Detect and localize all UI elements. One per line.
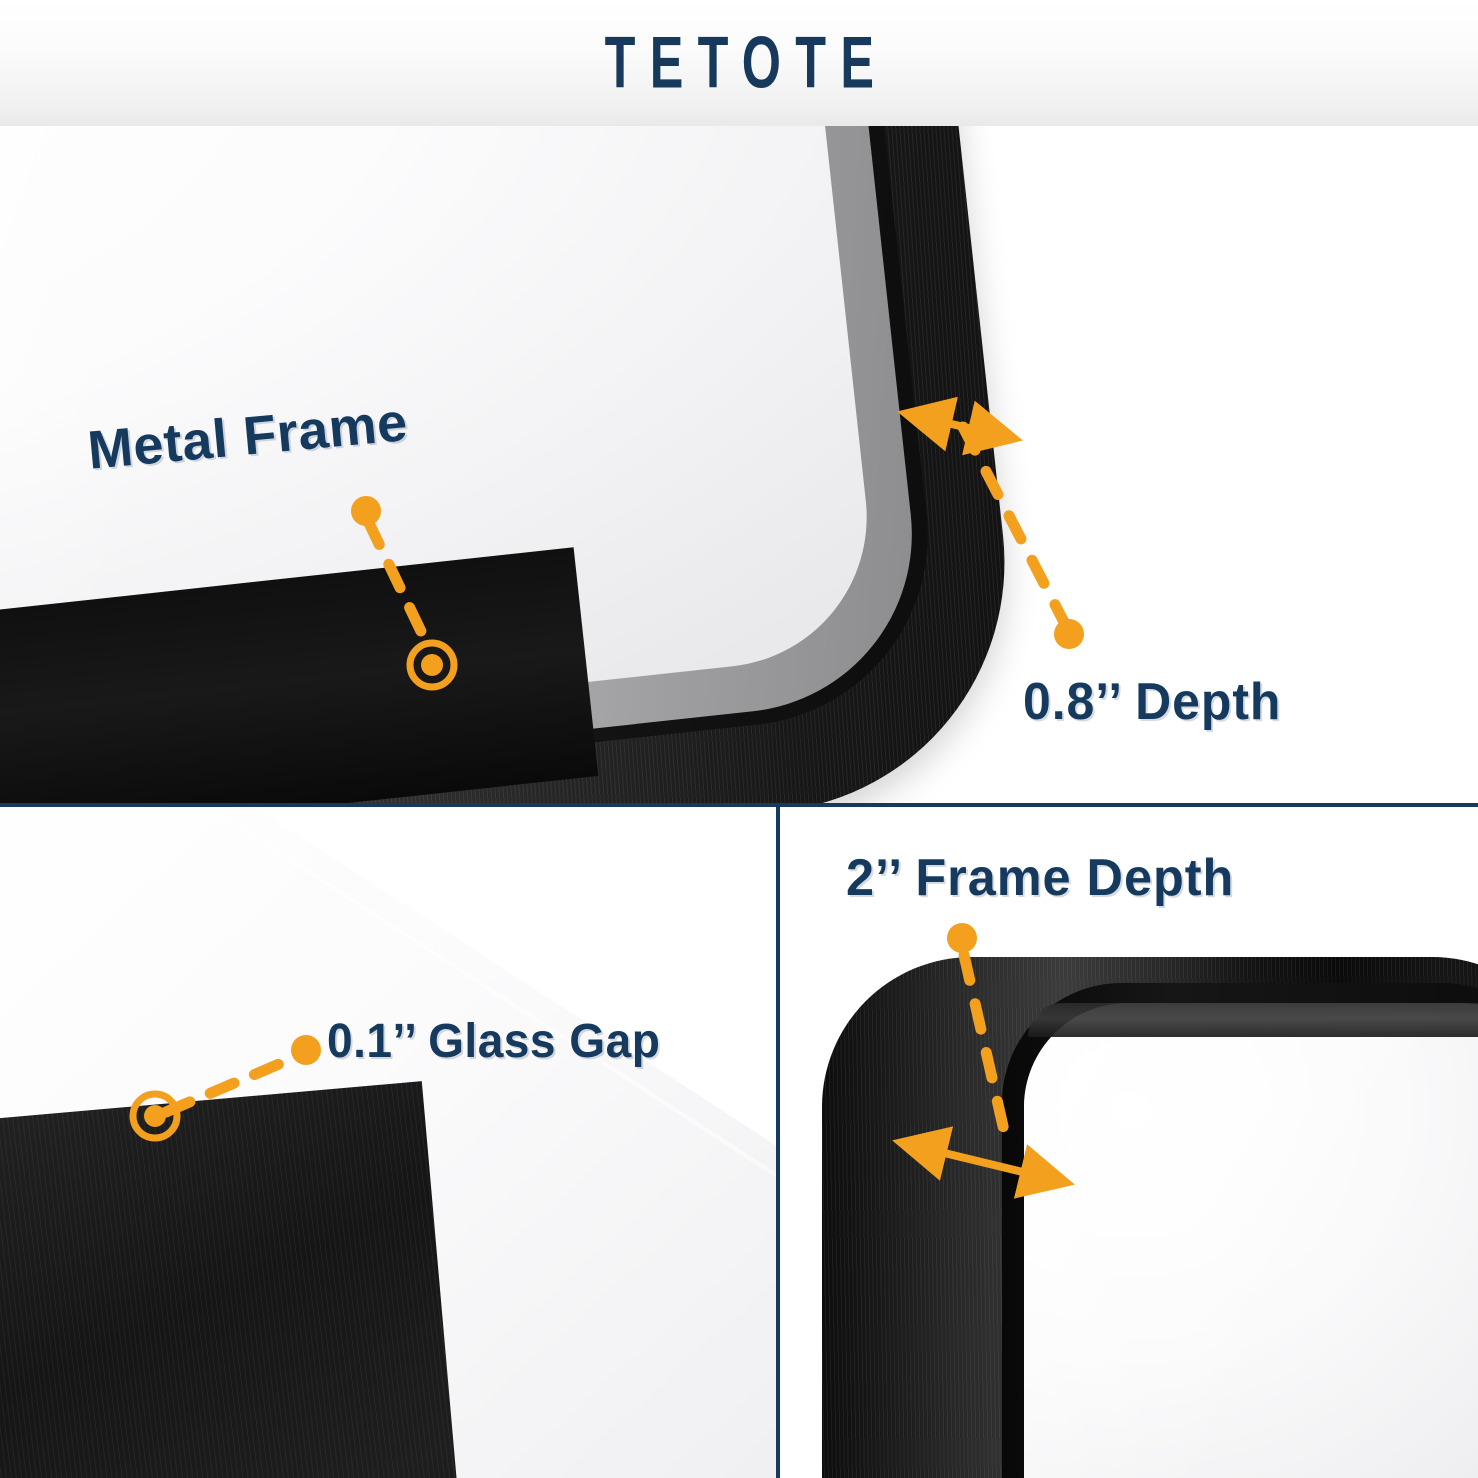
mirror-glass-inset — [1024, 1003, 1478, 1478]
label-frame-depth: 2’’ Frame Depth — [846, 852, 1234, 904]
product-infographic: TETOTE — [0, 0, 1478, 1478]
brand-header: TETOTE — [0, 0, 1478, 126]
panel-glass-gap-closeup — [0, 807, 776, 1478]
panel-divider-vertical — [776, 803, 780, 1478]
label-glass-gap: 0.1’’ Glass Gap — [327, 1018, 660, 1066]
brand-logo-tetote: TETOTE — [590, 26, 888, 99]
frame-top-edge-reflection — [1028, 1003, 1478, 1037]
frame-glass-edge-photo — [0, 807, 776, 1478]
frame-profile-photo — [780, 807, 1478, 1478]
label-depth: 0.8’’ Depth — [1023, 676, 1281, 728]
panel-divider-horizontal — [0, 803, 1478, 807]
panel-frame-depth-closeup — [780, 807, 1478, 1478]
frame-rounded-corner — [0, 1081, 476, 1478]
